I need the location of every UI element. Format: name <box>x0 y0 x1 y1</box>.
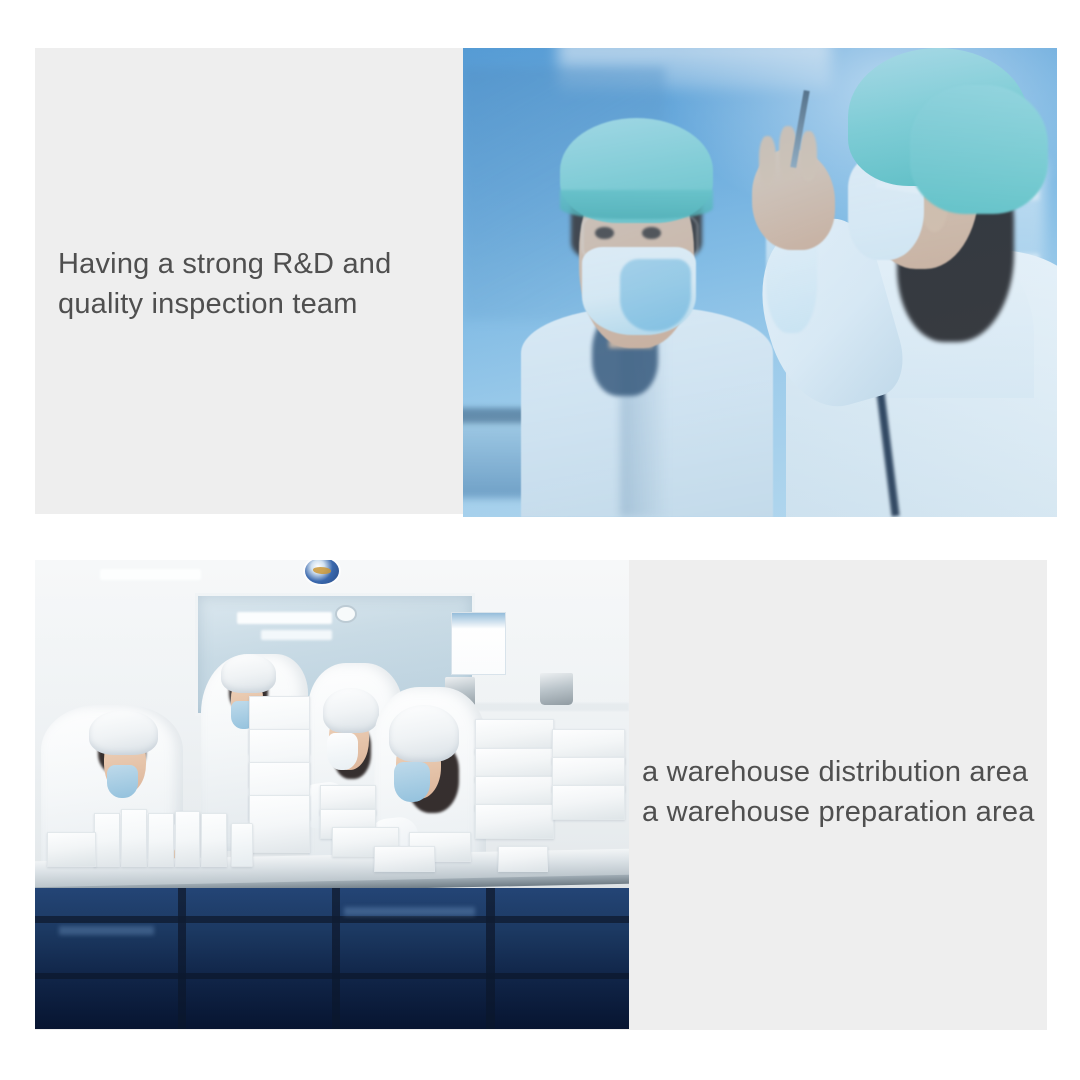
face-mask <box>394 762 430 802</box>
caption-line: quality inspection team <box>58 284 391 324</box>
carton <box>47 832 97 867</box>
carton <box>498 846 548 871</box>
face-mask <box>327 733 357 770</box>
frame-highlight <box>344 907 475 916</box>
hairnet <box>389 705 459 761</box>
product-box <box>148 813 174 867</box>
face-mask <box>107 765 138 798</box>
product-box <box>121 809 147 867</box>
product-box <box>201 813 227 867</box>
window-light-strip <box>237 612 332 624</box>
hairnet <box>323 688 378 733</box>
finger <box>759 136 776 187</box>
wall-clock <box>335 605 357 623</box>
ceiling-light <box>100 569 201 579</box>
warehouse-packing-photo <box>35 560 629 1029</box>
hairnet <box>221 654 277 693</box>
bottle <box>231 823 253 867</box>
carton <box>374 846 435 871</box>
lab-quality-inspection-photo <box>463 48 1057 517</box>
poster-canvas: Having a strong R&D and quality inspecti… <box>0 0 1080 1080</box>
carton-stack <box>249 795 310 853</box>
caption-line: Having a strong R&D and <box>58 244 391 284</box>
product-box <box>175 811 201 867</box>
carton <box>552 785 625 820</box>
hairnet-band <box>560 190 713 218</box>
carton <box>475 804 554 839</box>
hairnet <box>89 710 157 755</box>
frame-highlight <box>59 926 154 935</box>
window-light-strip <box>261 630 332 639</box>
frame-leg <box>178 888 186 1029</box>
wall-notice-board <box>451 612 506 675</box>
hairnet-cap-back <box>910 85 1048 214</box>
frame-leg <box>332 888 340 1029</box>
lab-worker-right <box>724 57 1057 517</box>
finger <box>800 131 817 182</box>
face-mask-fold <box>620 259 691 332</box>
product-box <box>94 813 120 867</box>
caption-line: a warehouse preparation area <box>642 792 1035 832</box>
company-logo-sign <box>305 560 338 584</box>
frame-leg <box>486 888 494 1029</box>
caption-line: a warehouse distribution area <box>642 752 1035 792</box>
caption-warehouse: a warehouse distribution area a warehous… <box>642 752 1035 832</box>
caption-research-quality: Having a strong R&D and quality inspecti… <box>58 244 391 324</box>
steel-container <box>540 673 573 706</box>
